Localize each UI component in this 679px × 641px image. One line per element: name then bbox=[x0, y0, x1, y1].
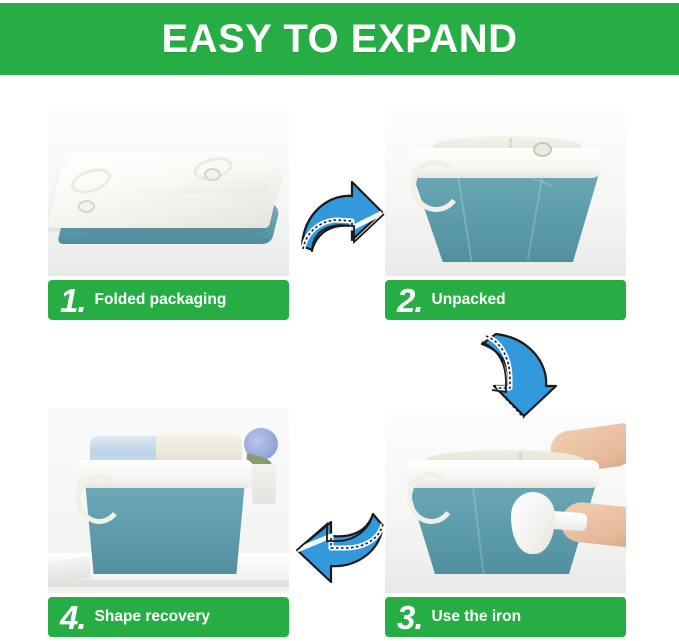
header-banner: EASY TO EXPAND bbox=[0, 3, 679, 75]
step-4-number: 4. bbox=[60, 601, 86, 634]
step-2-caption: 2. Unpacked bbox=[385, 280, 626, 320]
step-2-label: Unpacked bbox=[432, 292, 506, 308]
step-panel-1: 1. Folded packaging bbox=[48, 108, 289, 320]
step-panel-2: 2. Unpacked bbox=[385, 108, 626, 320]
step-2-photo bbox=[385, 108, 626, 276]
step-1-number: 1. bbox=[60, 284, 86, 317]
grommet-icon bbox=[204, 168, 221, 181]
step-1-caption: 1. Folded packaging bbox=[48, 280, 289, 320]
step-2-number: 2. bbox=[397, 284, 423, 317]
page-title: EASY TO EXPAND bbox=[162, 19, 518, 59]
folded-package-scene bbox=[48, 108, 289, 276]
step-1-label: Folded packaging bbox=[95, 292, 227, 308]
step-3-photo bbox=[385, 408, 626, 593]
shape-recovery-scene bbox=[48, 408, 289, 593]
step-3-label: Use the iron bbox=[432, 609, 522, 625]
step-panel-3: 3. Use the iron bbox=[385, 408, 626, 637]
step-4-photo bbox=[48, 408, 289, 593]
step-4-caption: 4. Shape recovery bbox=[48, 597, 289, 637]
shelf-edge bbox=[48, 580, 289, 587]
step-1-photo bbox=[48, 108, 289, 276]
arrow-step2-to-step3-icon bbox=[466, 330, 558, 420]
arrow-step3-to-step4-icon bbox=[291, 506, 389, 588]
step-3-caption: 3. Use the iron bbox=[385, 597, 626, 637]
unpacked-basket-scene bbox=[385, 108, 626, 276]
vase bbox=[252, 464, 276, 504]
step-panel-4: 4. Shape recovery bbox=[48, 408, 289, 637]
grommet-icon bbox=[78, 200, 95, 213]
step-4-label: Shape recovery bbox=[95, 609, 210, 625]
folded-clothes bbox=[156, 434, 242, 462]
ironing-scene bbox=[385, 408, 626, 593]
grommet-icon bbox=[533, 142, 552, 157]
step-3-number: 3. bbox=[397, 601, 423, 634]
arrow-step1-to-step2-icon bbox=[296, 176, 388, 262]
